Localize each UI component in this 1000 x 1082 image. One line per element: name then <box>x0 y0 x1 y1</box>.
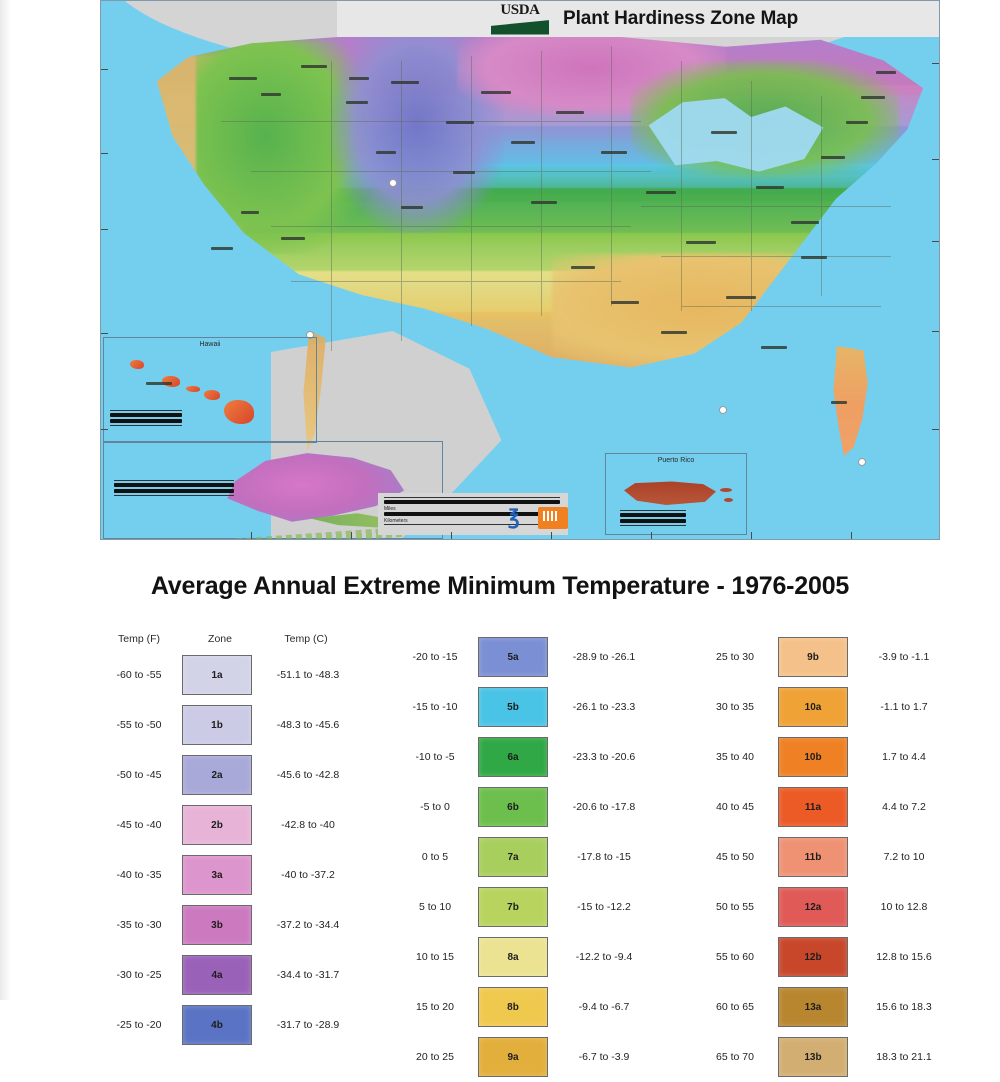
legend-column-1: Temp (F)ZoneTemp (C)-60 to -551a-51.1 to… <box>96 628 356 1050</box>
legend-temp-celsius: -45.6 to -42.8 <box>260 769 356 781</box>
legend-zone-swatch[interactable]: 8a <box>478 937 548 977</box>
city-marker <box>719 406 727 414</box>
legend-header-row: Temp (F)ZoneTemp (C) <box>96 628 356 650</box>
legend-temp-celsius: -12.2 to -9.4 <box>556 951 652 963</box>
legend-row[interactable]: 55 to 6012b12.8 to 15.6 <box>692 932 952 982</box>
legend-row[interactable]: -60 to -551a-51.1 to -48.3 <box>96 650 356 700</box>
legend-row[interactable]: -15 to -105b-26.1 to -23.3 <box>392 682 652 732</box>
legend-header-fahrenheit: Temp (F) <box>96 633 182 645</box>
legend-temp-fahrenheit: -60 to -55 <box>96 669 182 681</box>
legend-temp-fahrenheit: 50 to 55 <box>692 901 778 913</box>
legend-temp-celsius: -17.8 to -15 <box>556 851 652 863</box>
puerto-rico-inset-label: Puerto Rico <box>606 457 746 464</box>
usda-swoosh-shape <box>491 19 549 35</box>
legend-temp-fahrenheit: 10 to 15 <box>392 951 478 963</box>
hawaii-scale-bar <box>110 410 182 428</box>
legend-temp-celsius: -40 to -37.2 <box>260 869 356 881</box>
vieques-island <box>720 488 732 492</box>
legend-zone-swatch[interactable]: 13a <box>778 987 848 1027</box>
legend-zone-swatch[interactable]: 10b <box>778 737 848 777</box>
legend-zone-swatch[interactable]: 8b <box>478 987 548 1027</box>
city-marker <box>389 179 397 187</box>
legend-temp-celsius: -3.9 to -1.1 <box>856 651 952 663</box>
hawaii-island-hawaii <box>224 400 254 424</box>
legend-temp-celsius: -34.4 to -31.7 <box>260 969 356 981</box>
legend-temp-celsius: -48.3 to -45.6 <box>260 719 356 731</box>
legend-row[interactable]: -20 to -155a-28.9 to -26.1 <box>392 632 652 682</box>
legend-zone-swatch[interactable]: 4b <box>182 1005 252 1045</box>
legend-zone-swatch[interactable]: 11b <box>778 837 848 877</box>
legend-zone-swatch[interactable]: 3b <box>182 905 252 945</box>
legend-zone-swatch[interactable]: 12b <box>778 937 848 977</box>
legend-temp-celsius: -37.2 to -34.4 <box>260 919 356 931</box>
legend-temp-fahrenheit: -35 to -30 <box>96 919 182 931</box>
legend-row[interactable]: -45 to -402b-42.8 to -40 <box>96 800 356 850</box>
legend-zone-swatch[interactable]: 12a <box>778 887 848 927</box>
puerto-rico-inset[interactable]: Puerto Rico <box>605 453 747 535</box>
puerto-rico-landmass <box>624 480 716 506</box>
legend-zone-swatch[interactable]: 2b <box>182 805 252 845</box>
legend-temp-fahrenheit: 15 to 20 <box>392 1001 478 1013</box>
legend-row[interactable]: 45 to 5011b7.2 to 10 <box>692 832 952 882</box>
legend-row[interactable]: -10 to -56a-23.3 to -20.6 <box>392 732 652 782</box>
legend-temp-celsius: -9.4 to -6.7 <box>556 1001 652 1013</box>
usda-leaf-icon: USDA <box>489 3 551 36</box>
legend-temp-celsius: -31.7 to -28.9 <box>260 1019 356 1031</box>
legend-temp-fahrenheit: -15 to -10 <box>392 701 478 713</box>
legend-temp-fahrenheit: 5 to 10 <box>392 901 478 913</box>
legend-row[interactable]: -30 to -254a-34.4 to -31.7 <box>96 950 356 1000</box>
puerto-rico-scale-bar <box>620 510 686 528</box>
hawaii-island-maui <box>204 390 220 400</box>
legend-zone-swatch[interactable]: 13b <box>778 1037 848 1077</box>
culebra-island <box>724 498 733 502</box>
legend-temp-celsius: 7.2 to 10 <box>856 851 952 863</box>
legend-temp-fahrenheit: 20 to 25 <box>392 1051 478 1063</box>
legend-row[interactable]: 25 to 309b-3.9 to -1.1 <box>692 632 952 682</box>
legend-zone-swatch[interactable]: 1b <box>182 705 252 745</box>
map-header-band: USDA Plant Hardiness Zone Map <box>337 1 939 37</box>
legend-temp-celsius: 4.4 to 7.2 <box>856 801 952 813</box>
legend-row[interactable]: -25 to -204b-31.7 to -28.9 <box>96 1000 356 1050</box>
ars-logo: ℥ <box>508 507 534 529</box>
legend-row[interactable]: 15 to 208b-9.4 to -6.7 <box>392 982 652 1032</box>
legend-row[interactable]: 40 to 4511a4.4 to 7.2 <box>692 782 952 832</box>
map-frame[interactable]: USDA Plant Hardiness Zone Map Hawaii Ala… <box>100 0 940 540</box>
legend-temp-celsius: 10 to 12.8 <box>856 901 952 913</box>
page-left-edge <box>0 0 11 1000</box>
legend-row[interactable]: 5 to 107b-15 to -12.2 <box>392 882 652 932</box>
legend-temp-celsius: 12.8 to 15.6 <box>856 951 952 963</box>
legend-temp-celsius: -23.3 to -20.6 <box>556 751 652 763</box>
legend-row[interactable]: 0 to 57a-17.8 to -15 <box>392 832 652 882</box>
legend-temp-fahrenheit: 30 to 35 <box>692 701 778 713</box>
legend-temp-celsius: -28.9 to -26.1 <box>556 651 652 663</box>
legend-temp-celsius: -6.7 to -3.9 <box>556 1051 652 1063</box>
legend-temp-fahrenheit: -30 to -25 <box>96 969 182 981</box>
osu-prism-logo <box>538 507 568 529</box>
legend-temp-celsius: -20.6 to -17.8 <box>556 801 652 813</box>
legend-zone-swatch[interactable]: 5a <box>478 637 548 677</box>
legend-temp-fahrenheit: 45 to 50 <box>692 851 778 863</box>
legend-header-zone: Zone <box>182 633 258 645</box>
legend-zone-swatch[interactable]: 1a <box>182 655 252 695</box>
legend-row[interactable]: -5 to 06b-20.6 to -17.8 <box>392 782 652 832</box>
legend-temp-fahrenheit: 65 to 70 <box>692 1051 778 1063</box>
legend-row[interactable]: 50 to 5512a10 to 12.8 <box>692 882 952 932</box>
hawaii-inset-label: Hawaii <box>104 341 316 348</box>
hawaii-island-kauai <box>130 360 144 369</box>
legend-temp-celsius: -26.1 to -23.3 <box>556 701 652 713</box>
legend-temp-celsius: 18.3 to 21.1 <box>856 1051 952 1063</box>
legend-zone-swatch[interactable]: 6b <box>478 787 548 827</box>
legend-zone-swatch[interactable]: 7a <box>478 837 548 877</box>
legend-zone-swatch[interactable]: 10a <box>778 687 848 727</box>
legend-zone-swatch[interactable]: 9a <box>478 1037 548 1077</box>
legend-temp-fahrenheit: -55 to -50 <box>96 719 182 731</box>
legend-temp-celsius: -1.1 to 1.7 <box>856 701 952 713</box>
legend-temp-fahrenheit: 35 to 40 <box>692 751 778 763</box>
legend-row[interactable]: 10 to 158a-12.2 to -9.4 <box>392 932 652 982</box>
usda-wordmark: USDA <box>500 3 539 18</box>
legend-row[interactable]: -40 to -353a-40 to -37.2 <box>96 850 356 900</box>
legend-temp-fahrenheit: -45 to -40 <box>96 819 182 831</box>
legend-temp-fahrenheit: -40 to -35 <box>96 869 182 881</box>
legend-temp-fahrenheit: 40 to 45 <box>692 801 778 813</box>
legend-temp-fahrenheit: 60 to 65 <box>692 1001 778 1013</box>
page-title: Average Annual Extreme Minimum Temperatu… <box>0 572 1000 601</box>
legend-row[interactable]: -35 to -303b-37.2 to -34.4 <box>96 900 356 950</box>
hawaii-inset[interactable]: Hawaii <box>103 337 317 443</box>
legend-zone-swatch[interactable]: 11a <box>778 787 848 827</box>
legend-row[interactable]: 20 to 259a-6.7 to -3.9 <box>392 1032 652 1082</box>
legend-row[interactable]: 60 to 6513a15.6 to 18.3 <box>692 982 952 1032</box>
legend-temp-celsius: 15.6 to 18.3 <box>856 1001 952 1013</box>
map-title: Plant Hardiness Zone Map <box>563 8 798 30</box>
legend-column-2: -20 to -155a-28.9 to -26.1-15 to -105b-2… <box>392 632 652 1082</box>
legend-temp-fahrenheit: -5 to 0 <box>392 801 478 813</box>
legend-zone-swatch[interactable]: 5b <box>478 687 548 727</box>
legend-header-celsius: Temp (C) <box>258 633 354 645</box>
legend-zone-swatch[interactable]: 9b <box>778 637 848 677</box>
legend-row[interactable]: -50 to -452a-45.6 to -42.8 <box>96 750 356 800</box>
legend-temp-celsius: -51.1 to -48.3 <box>260 669 356 681</box>
legend-zone-swatch[interactable]: 3a <box>182 855 252 895</box>
legend-zone-swatch[interactable]: 6a <box>478 737 548 777</box>
legend-row[interactable]: -55 to -501b-48.3 to -45.6 <box>96 700 356 750</box>
plant-hardiness-map-figure: USDA Plant Hardiness Zone Map Hawaii Ala… <box>100 0 940 542</box>
legend-temp-fahrenheit: 55 to 60 <box>692 951 778 963</box>
legend-row[interactable]: 30 to 3510a-1.1 to 1.7 <box>692 682 952 732</box>
legend-temp-fahrenheit: 0 to 5 <box>392 851 478 863</box>
legend-temp-fahrenheit: -25 to -20 <box>96 1019 182 1031</box>
legend-row[interactable]: 35 to 4010b1.7 to 4.4 <box>692 732 952 782</box>
legend-column-3: 25 to 309b-3.9 to -1.130 to 3510a-1.1 to… <box>692 632 952 1082</box>
legend-zone-swatch[interactable]: 4a <box>182 955 252 995</box>
aleutian-islands <box>196 527 406 540</box>
city-marker <box>858 458 866 466</box>
legend-temp-fahrenheit: -10 to -5 <box>392 751 478 763</box>
legend-row[interactable]: 65 to 7013b18.3 to 21.1 <box>692 1032 952 1082</box>
hawaii-island-molokai <box>186 386 200 392</box>
legend-zone-swatch[interactable]: 7b <box>478 887 548 927</box>
alaska-scale-bar <box>114 480 234 498</box>
legend-temp-fahrenheit: -20 to -15 <box>392 651 478 663</box>
legend-temp-celsius: -15 to -12.2 <box>556 901 652 913</box>
legend-temp-fahrenheit: 25 to 30 <box>692 651 778 663</box>
legend-temp-celsius: -42.8 to -40 <box>260 819 356 831</box>
legend-temp-celsius: 1.7 to 4.4 <box>856 751 952 763</box>
legend-zone-swatch[interactable]: 2a <box>182 755 252 795</box>
legend-temp-fahrenheit: -50 to -45 <box>96 769 182 781</box>
